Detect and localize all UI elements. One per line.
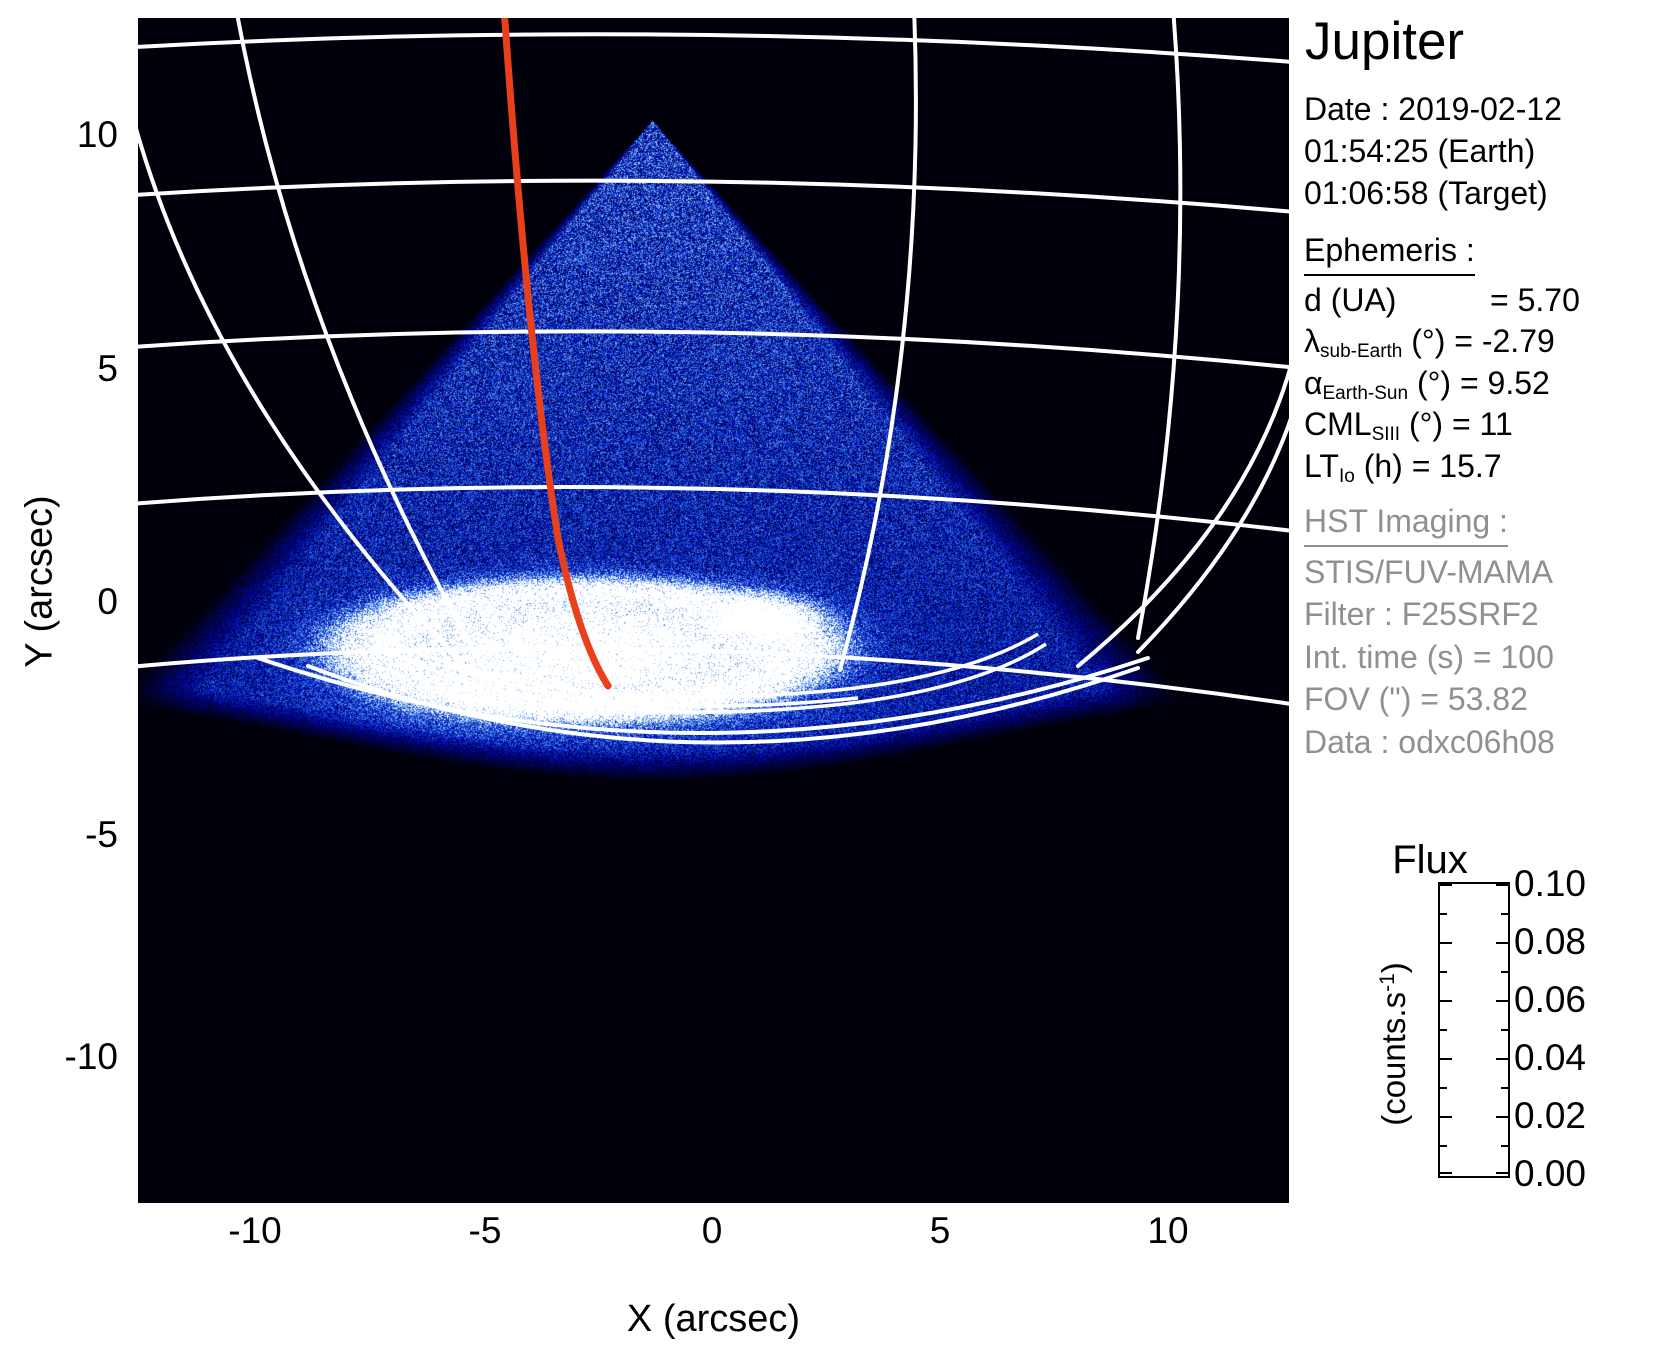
colorbar-tick-minor	[1501, 1029, 1508, 1031]
colorbar-tick-label: 0.06	[1514, 981, 1586, 1018]
latitude-line-3	[138, 331, 1289, 370]
ephemeris-row-distance: d (UA)= 5.70	[1304, 280, 1580, 322]
flux-colorbar	[1438, 882, 1510, 1178]
colorbar-tick-major	[1496, 1058, 1508, 1060]
ephemeris-unit: (h)	[1364, 448, 1403, 484]
colorbar-axis-units: (counts.s	[1375, 992, 1412, 1126]
colorbar-tick-minor	[1440, 1087, 1447, 1089]
ephemeris-sublabel: Io	[1339, 466, 1355, 487]
observation-date: Date : 2019-02-12	[1304, 88, 1562, 130]
colorbar-tick-minor	[1440, 1029, 1447, 1031]
ephemeris-value: = 5.70	[1490, 282, 1580, 318]
meridian-line-1	[138, 114, 468, 670]
ephemeris-row-cml: CMLSIII (°) = 11	[1304, 404, 1580, 446]
ephemeris-value: = 15.7	[1412, 448, 1502, 484]
meridian-line-6	[1078, 338, 1289, 666]
colorbar-axis-title: (counts.s-1)	[1375, 914, 1413, 1174]
colorbar-tick-major	[1496, 1000, 1508, 1002]
observation-date-block: Date : 2019-02-12 01:54:25 (Earth) 01:06…	[1304, 88, 1562, 215]
colorbar-tick-major	[1440, 1058, 1452, 1060]
ephemeris-value: = -2.79	[1454, 323, 1555, 359]
meridian-line-4	[1138, 18, 1180, 638]
ephemeris-sublabel: Earth-Sun	[1323, 383, 1409, 404]
colorbar-tick-minor	[1440, 971, 1447, 973]
hst-imaging-block: HST Imaging : STIS/FUV-MAMA Filter : F25…	[1304, 500, 1555, 763]
colorbar-tick-label: 0.08	[1514, 923, 1586, 960]
io-footprint-track	[504, 18, 608, 686]
x-tick-label: 0	[652, 1212, 772, 1249]
colorbar-tick-minor	[1501, 913, 1508, 915]
colorbar-group: Flux 0.10 0.08 0.06 0.04 0.02 0.00 (coun…	[1300, 830, 1676, 1230]
image-plot-area	[138, 18, 1289, 1203]
hst-field-of-view: FOV (") = 53.82	[1304, 678, 1555, 721]
planetographic-grid-overlay	[138, 18, 1289, 1203]
colorbar-tick-label: 0.10	[1514, 865, 1586, 902]
ephemeris-value: = 9.52	[1460, 365, 1550, 401]
hst-dataset-id: Data : odxc06h08	[1304, 721, 1555, 764]
colorbar-axis-paren: )	[1375, 962, 1412, 973]
colorbar-tick-major	[1440, 1000, 1452, 1002]
ephemeris-label: α	[1304, 363, 1323, 405]
colorbar-tick-minor	[1501, 971, 1508, 973]
meridian-line-2	[236, 18, 490, 678]
x-axis-title: X (arcsec)	[138, 1298, 1289, 1341]
oval-contour-3	[448, 666, 858, 706]
colorbar-tick-major	[1440, 1172, 1452, 1174]
ephemeris-label: LT	[1304, 446, 1339, 488]
meridian-line-3	[840, 18, 916, 670]
colorbar-tick-major	[1496, 1172, 1508, 1174]
x-tick-label: -10	[195, 1212, 315, 1249]
observation-time-target: 01:06:58 (Target)	[1304, 172, 1562, 214]
x-tick-label: 10	[1108, 1212, 1228, 1249]
latitude-line-2	[138, 181, 1289, 214]
colorbar-tick-minor	[1501, 1145, 1508, 1147]
hst-imaging-heading: HST Imaging :	[1304, 500, 1508, 547]
colorbar-tick-major	[1496, 1116, 1508, 1118]
ephemeris-label: λ	[1304, 321, 1320, 363]
ephemeris-label: CML	[1304, 404, 1372, 446]
ephemeris-block: Ephemeris : d (UA)= 5.70 λsub-Earth (°) …	[1304, 230, 1580, 488]
ephemeris-sublabel: SIII	[1372, 424, 1401, 445]
ephemeris-label: d (UA)	[1304, 282, 1396, 318]
colorbar-title: Flux	[1330, 838, 1530, 883]
hst-filter: Filter : F25SRF2	[1304, 593, 1555, 636]
colorbar-tick-minor	[1440, 913, 1447, 915]
colorbar-tick-label: 0.04	[1514, 1039, 1586, 1076]
ephemeris-unit: (°)	[1409, 406, 1443, 442]
x-tick-label: -5	[425, 1212, 545, 1249]
x-tick-label: 5	[880, 1212, 1000, 1249]
target-name-title: Jupiter	[1305, 14, 1464, 70]
observation-time-earth: 01:54:25 (Earth)	[1304, 130, 1562, 172]
ephemeris-heading: Ephemeris :	[1304, 230, 1475, 276]
y-tick-label: 5	[8, 350, 118, 387]
ephemeris-sublabel: sub-Earth	[1320, 341, 1402, 362]
latitude-line-1	[138, 34, 1289, 64]
ephemeris-unit: (°)	[1417, 365, 1451, 401]
colorbar-tick-major	[1440, 884, 1452, 886]
colorbar-tick-minor	[1501, 1087, 1508, 1089]
colorbar-tick-major	[1496, 942, 1508, 944]
colorbar-tick-label: 0.00	[1514, 1155, 1586, 1192]
colorbar-tick-major	[1440, 1116, 1452, 1118]
latitude-line-5	[138, 648, 1289, 708]
colorbar-tick-minor	[1440, 1145, 1447, 1147]
ephemeris-row-io-local-time: LTIo (h) = 15.7	[1304, 446, 1580, 488]
colorbar-tick-label: 0.02	[1514, 1097, 1586, 1134]
ephemeris-row-sub-earth-latitude: λsub-Earth (°) = -2.79	[1304, 321, 1580, 363]
latitude-line-4	[138, 487, 1289, 534]
hst-integration-time: Int. time (s) = 100	[1304, 636, 1555, 679]
colorbar-tick-major	[1440, 942, 1452, 944]
ephemeris-unit: (°)	[1411, 323, 1445, 359]
colorbar-axis-exponent: -1	[1376, 973, 1399, 992]
hst-instrument: STIS/FUV-MAMA	[1304, 551, 1555, 594]
y-axis-title: Y (arcsec)	[19, 432, 62, 732]
ephemeris-row-phase-angle: αEarth-Sun (°) = 9.52	[1304, 363, 1580, 405]
colorbar-tick-major	[1496, 884, 1508, 886]
y-tick-label: -10	[8, 1038, 118, 1075]
y-tick-label: -5	[8, 816, 118, 853]
y-tick-label: 10	[8, 116, 118, 153]
ephemeris-value: = 11	[1452, 406, 1513, 442]
